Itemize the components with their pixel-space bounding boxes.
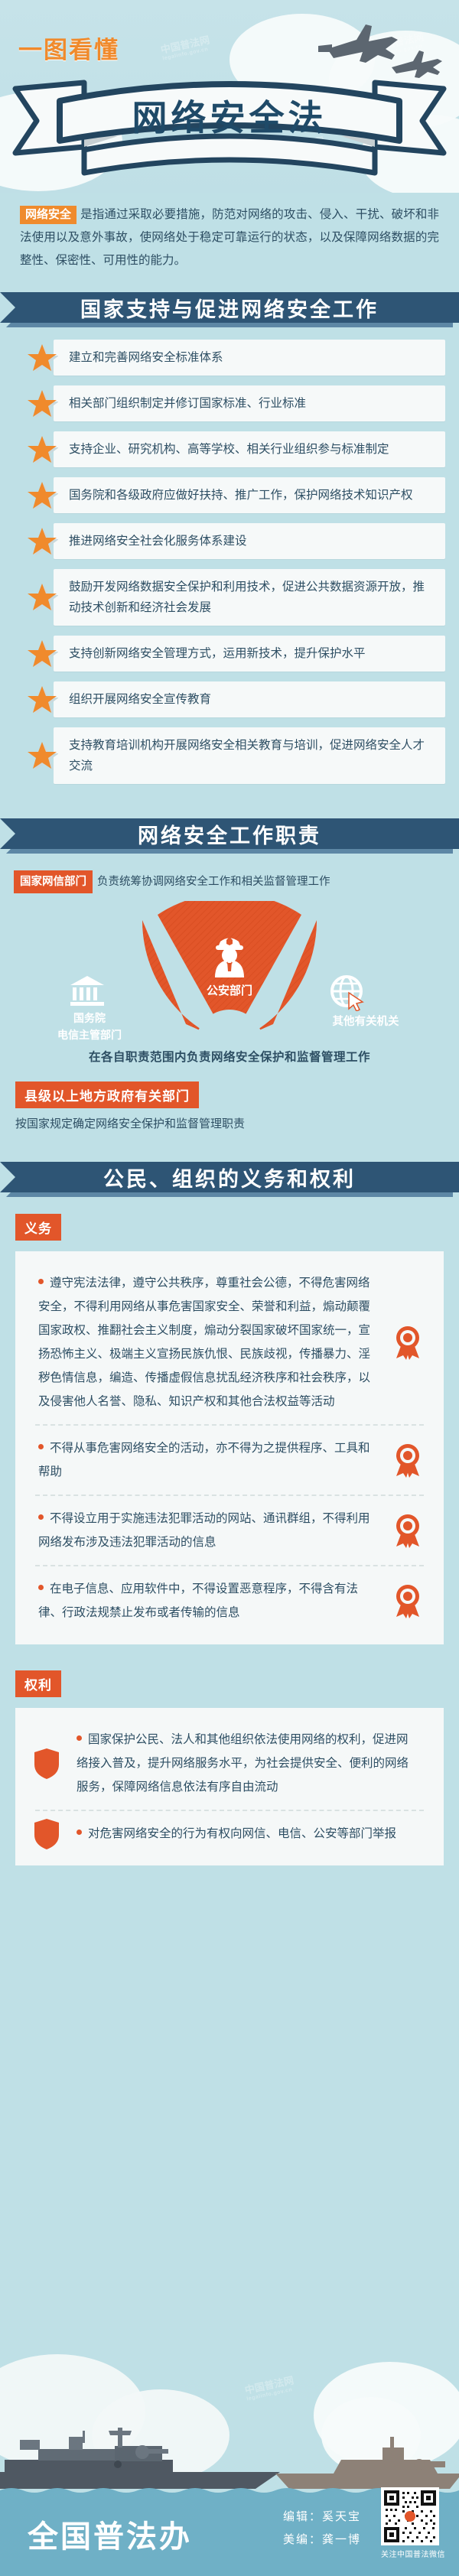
list-item: 鼓励开发网络数据安全保护和利用技术，促进公共数据资源开放，推动技术创新和经济社会… [14, 569, 445, 626]
list-item: 支持企业、研究机构、高等学校、相关行业组织参与标准制定 [14, 431, 445, 467]
obligations-panel: 遵守宪法法律，遵守公共秩序，尊重社会公德，不得危害网络安全，不得利用网络从事危害… [15, 1251, 444, 1644]
national-dept-text: 负责统筹协调网络安全工作和相关监督管理工作 [97, 876, 330, 888]
obligation-item: 在电子信息、应用软件中，不得设置恶意程序，不得含有法律、行政法规禁止发布或者传输… [32, 1569, 427, 1632]
fan-caption: 在各自职责范围内负责网络安全保护和监督管理工作 [0, 1046, 459, 1065]
ribbon-medal-icon [393, 1442, 422, 1478]
star-icon [26, 581, 58, 613]
list-item-text: 组织开展网络安全宣传教育 [54, 681, 445, 717]
obligations-tag: 义务 [15, 1214, 61, 1241]
intro-tag: 网络安全 [20, 206, 76, 224]
title-ribbon: 网络安全法 [11, 73, 448, 177]
obligation-text: 遵守宪法法律，遵守公共秩序，尊重社会公德，不得危害网络安全，不得利用网络从事危害… [38, 1277, 370, 1408]
list-item-text: 建立和完善网络安全标准体系 [54, 340, 445, 376]
list-item-text: 国务院和各级政府应做好扶持、推广工作，保护网络技术知识产权 [54, 477, 445, 513]
footer-section: 全国普法办 编辑：奚天宝 美编：龚一博 [0, 2347, 459, 2576]
globe-cursor-icon [329, 974, 367, 1011]
bullet-dot [76, 1735, 82, 1741]
police-officer-icon [212, 933, 247, 977]
rights-header: 权利 [0, 1644, 459, 1697]
bullet-dot [38, 1514, 44, 1520]
star-icon [26, 525, 58, 558]
national-dept-tag: 国家网信部门 [14, 870, 93, 893]
editor-name: 奚天宝 [322, 2510, 361, 2523]
star-icon [26, 388, 58, 420]
star-icon [26, 434, 58, 466]
obligation-item: 遵守宪法法律，遵守公共秩序，尊重社会公德，不得危害网络安全，不得利用网络从事危害… [32, 1264, 427, 1421]
ribbon-medal-icon [393, 1583, 422, 1618]
list-item-text: 鼓励开发网络数据安全保护和利用技术，促进公共数据资源开放，推动技术创新和经济社会… [54, 569, 445, 626]
star-icon [26, 342, 58, 374]
list-item: 支持创新网络安全管理方式，运用新技术，提升保护水平 [14, 636, 445, 672]
intro-body: 是指通过采取必要措施，防范对网络的攻击、侵入、干扰、破坏和非法使用以及意外事故，… [20, 208, 439, 267]
list-item: 组织开展网络安全宣传教育 [14, 681, 445, 717]
editor-line: 编辑：奚天宝 [283, 2506, 361, 2529]
right-item: 国家保护公民、法人和其他组织依法使用网络的权利，促进网络接入普及，提升网络服务水… [32, 1720, 427, 1807]
local-dept-tag: 县级以上地方政府有关部门 [15, 1081, 199, 1108]
editor-label: 编辑： [283, 2510, 322, 2523]
fan-label-police: 公安部门 [176, 982, 283, 998]
bullet-dot [38, 1444, 44, 1449]
section-title-citizens: 公民、组织的义务和权利 [0, 1162, 459, 1192]
designer-label: 美编： [283, 2533, 322, 2546]
rights-tag: 权利 [15, 1670, 61, 1697]
footer-credits: 编辑：奚天宝 美编：龚一博 [283, 2506, 361, 2552]
ribbon-medal-icon [393, 1325, 422, 1360]
list-item-text: 支持教育培训机构开展网络安全相关教育与培训，促进网络安全人才交流 [54, 727, 445, 784]
watermark: 中国普法网legalinfo.gov.cn [159, 32, 212, 62]
section-title-support: 国家支持与促进网络安全工作 [0, 292, 459, 323]
hero-section: 一图看懂 网络安全法 中国普法网legalinfo.gov.cn 中国普法网le… [0, 0, 459, 193]
obligation-text: 在电子信息、应用软件中，不得设置恶意程序，不得含有法律、行政法规禁止发布或者传输… [38, 1582, 358, 1619]
list-item-text: 推进网络安全社会化服务体系建设 [54, 523, 445, 559]
qr-code-icon[interactable] [381, 2487, 439, 2545]
list-item-text: 支持企业、研究机构、高等学校、相关行业组织参与标准制定 [54, 431, 445, 467]
designer-name: 龚一博 [322, 2533, 361, 2546]
star-icon [26, 638, 58, 670]
intro-paragraph: 网络安全是指通过采取必要措施，防范对网络的攻击、侵入、干扰、破坏和非法使用以及意… [0, 193, 459, 280]
section-title-duties: 网络安全工作职责 [0, 818, 459, 849]
footer-title: 全国普法办 [28, 2512, 192, 2556]
list-item-text: 支持创新网络安全管理方式，运用新技术，提升保护水平 [54, 636, 445, 672]
qr-caption: 关注中国普法微信 [381, 2548, 445, 2559]
divider [35, 1810, 424, 1811]
designer-line: 美编：龚一博 [283, 2529, 361, 2552]
list-item: 推进网络安全社会化服务体系建设 [14, 523, 445, 559]
fan-label-line1: 国务院 [24, 1010, 155, 1026]
local-dept-text: 按国家规定确定网络安全保护和监督管理职责 [0, 1108, 459, 1134]
fan-label-other: 其他有关机关 [297, 1013, 435, 1029]
bank-building-icon [69, 974, 106, 1007]
shield-icon [34, 1818, 60, 1850]
star-icon [26, 684, 58, 716]
right-text: 对危害网络安全的行为有权向网信、电信、公安等部门举报 [88, 1827, 396, 1840]
local-dept-block: 县级以上地方政府有关部门 [0, 1065, 459, 1108]
divider [35, 1424, 424, 1426]
right-text: 国家保护公民、法人和其他组织依法使用网络的权利，促进网络接入普及，提升网络服务水… [76, 1733, 409, 1794]
support-measures-list: 建立和完善网络安全标准体系 相关部门组织制定并修订国家标准、行业标准 支持企业、… [0, 327, 459, 798]
bullet-dot [38, 1279, 44, 1284]
list-item: 相关部门组织制定并修订国家标准、行业标准 [14, 385, 445, 421]
star-icon [26, 480, 58, 512]
star-icon [26, 740, 58, 772]
obligation-text: 不得设立用于实施违法犯罪活动的网站、通讯群组，不得利用网络发布涉及违法犯罪活动的… [38, 1512, 370, 1549]
obligation-item: 不得从事危害网络安全的活动，亦不得为之提供程序、工具和帮助 [32, 1429, 427, 1491]
obligations-header: 义务 [0, 1197, 459, 1241]
section-banner-support: 国家支持与促进网络安全工作 [0, 292, 459, 327]
departments-fan-diagram: 国务院 电信主管部门 公安部门 其他有关机关 [0, 901, 459, 1046]
fan-label-line1: 其他有关机关 [333, 1016, 399, 1028]
ribbon-medal-icon [393, 1513, 422, 1548]
national-dept-line: 国家网信部门负责统筹协调网络安全工作和相关监督管理工作 [0, 854, 459, 896]
list-item: 建立和完善网络安全标准体系 [14, 340, 445, 376]
bullet-dot [76, 1830, 82, 1835]
fan-label-telecom: 国务院 电信主管部门 [24, 1010, 155, 1043]
list-item-text: 相关部门组织制定并修订国家标准、行业标准 [54, 385, 445, 421]
list-item: 支持教育培训机构开展网络安全相关教育与培训，促进网络安全人才交流 [14, 727, 445, 784]
bullet-dot [38, 1585, 44, 1590]
rights-panel: 国家保护公民、法人和其他组织依法使用网络的权利，促进网络接入普及，提升网络服务水… [15, 1708, 444, 1865]
page-kicker: 一图看懂 [18, 31, 119, 65]
right-item: 对危害网络安全的行为有权向网信、电信、公安等部门举报 [32, 1814, 427, 1853]
divider [35, 1495, 424, 1496]
section-banner-citizens: 公民、组织的义务和权利 [0, 1162, 459, 1197]
obligation-text: 不得从事危害网络安全的活动，亦不得为之提供程序、工具和帮助 [38, 1442, 370, 1478]
list-item: 国务院和各级政府应做好扶持、推广工作，保护网络技术知识产权 [14, 477, 445, 513]
divider [35, 1565, 424, 1566]
section-banner-duties: 网络安全工作职责 [0, 818, 459, 854]
fan-label-line1: 公安部门 [207, 984, 252, 997]
shield-icon [34, 1748, 60, 1780]
fan-label-line2: 电信主管部门 [24, 1026, 155, 1043]
obligation-item: 不得设立用于实施违法犯罪活动的网站、通讯群组，不得利用网络发布涉及违法犯罪活动的… [32, 1499, 427, 1562]
watermark: 中国普法网legalinfo.gov.cn [243, 2373, 296, 2402]
